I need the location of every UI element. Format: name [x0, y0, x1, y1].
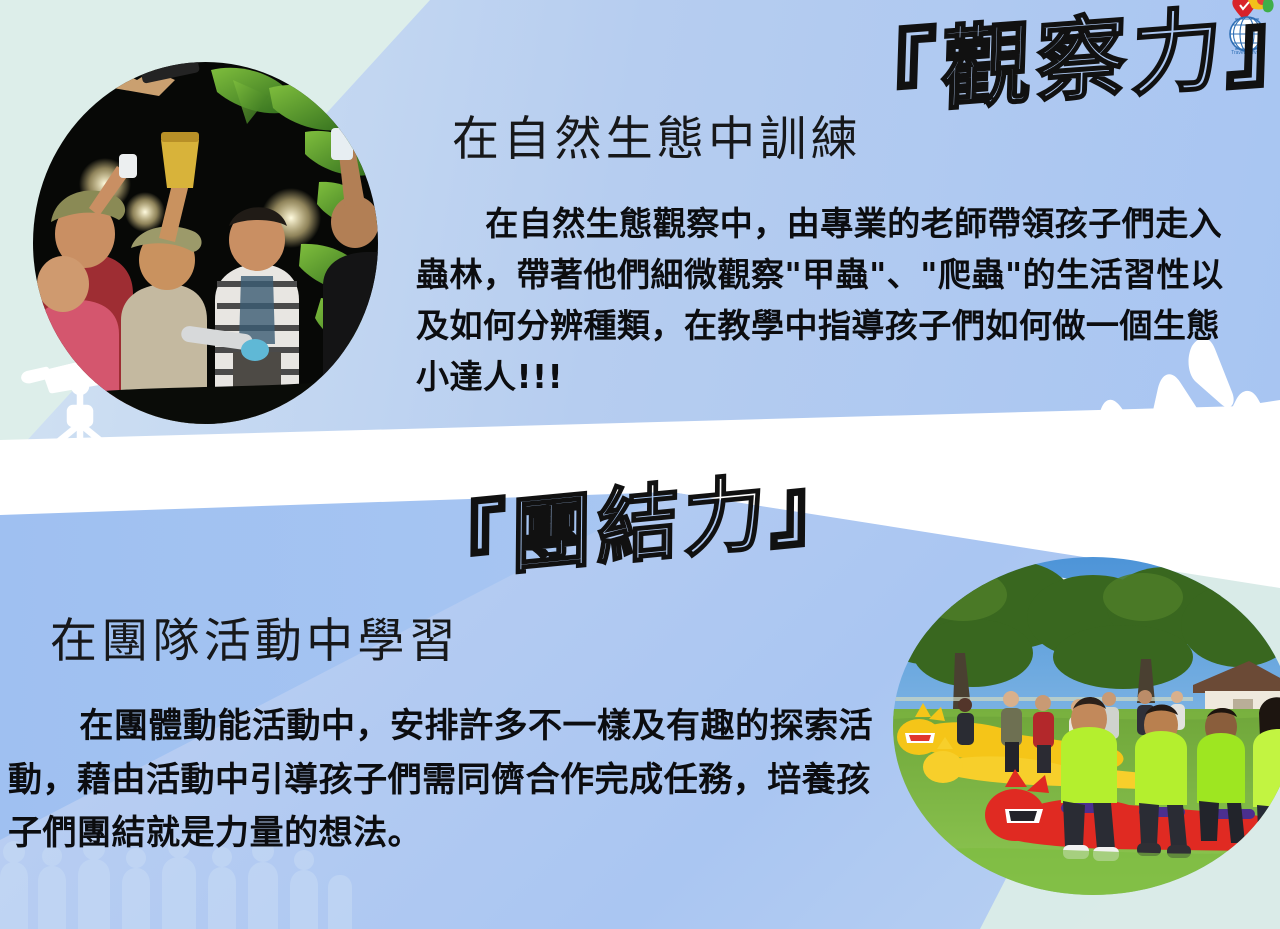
- section-teamwork-subheading: 在團隊活動中學習: [50, 602, 460, 671]
- night-insect-observation-photo: [33, 62, 378, 424]
- section-observation-subheading: 在自然生態中訓練: [452, 100, 862, 169]
- section-teamwork-body: 在團體動能活動中，安排許多不一樣及有趣的探索活動，藉由活動中引導孩子們需同儕合作…: [8, 700, 876, 861]
- poster-canvas: Travel Service 『觀察力』 在自然生態中訓練 在自然生態觀察中，由…: [0, 0, 1280, 929]
- section-observation-body: 在自然生態觀察中，由專業的老師帶領孩子們走入蟲林，帶著他們細微觀察"甲蟲"、"爬…: [416, 198, 1246, 403]
- team-inflatable-game-photo: [893, 557, 1280, 895]
